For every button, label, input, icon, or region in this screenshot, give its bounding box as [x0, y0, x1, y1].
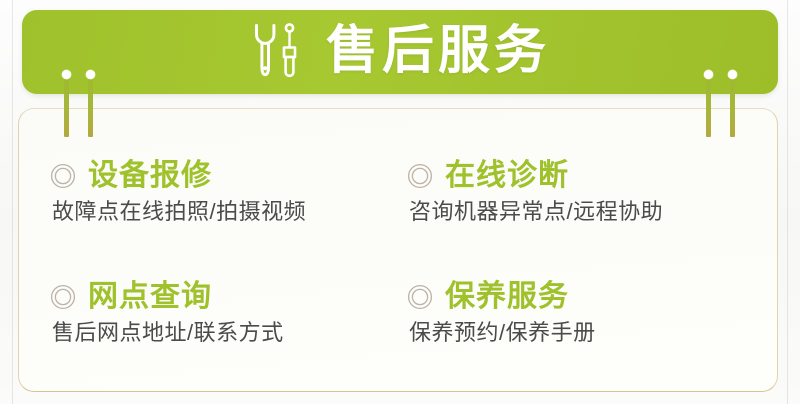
double-ring-icon	[50, 284, 76, 310]
service-item-title: 设备报修	[88, 160, 212, 192]
service-item-heading: 保养服务	[407, 281, 764, 313]
pin-head	[728, 70, 737, 79]
double-ring-icon	[407, 284, 433, 310]
service-item-description: 售后网点地址/联系方式	[52, 319, 407, 347]
wrench-screwdriver-icon	[250, 20, 304, 82]
service-item-heading: 网点查询	[50, 281, 407, 313]
service-item-description: 故障点在线拍照/拍摄视频	[52, 198, 407, 226]
pin-stem	[88, 75, 93, 137]
pin-head	[704, 70, 713, 79]
pin-stem	[706, 75, 711, 137]
service-grid: 设备报修 故障点在线拍照/拍摄视频 在线诊断 咨询机器异常点/远程协助 网点查询	[18, 108, 778, 392]
left-edge-divider	[12, 0, 13, 404]
double-ring-icon	[50, 163, 76, 189]
service-item-heading: 在线诊断	[407, 160, 764, 192]
pin-head	[62, 70, 71, 79]
double-ring-icon	[407, 163, 433, 189]
service-item-heading: 设备报修	[50, 160, 407, 192]
service-item-branch-lookup[interactable]: 网点查询 售后网点地址/联系方式	[50, 255, 407, 372]
page-title: 售后服务	[326, 25, 550, 77]
service-item-equipment-repair[interactable]: 设备报修 故障点在线拍照/拍摄视频	[50, 134, 407, 251]
service-item-title: 保养服务	[445, 281, 569, 313]
pin-head	[86, 70, 95, 79]
service-item-description: 保养预约/保养手册	[409, 319, 764, 347]
header-banner: 售后服务	[22, 10, 778, 94]
service-item-title: 在线诊断	[445, 160, 569, 192]
pin-stem	[64, 75, 69, 137]
service-item-online-diagnosis[interactable]: 在线诊断 咨询机器异常点/远程协助	[407, 134, 764, 251]
service-item-maintenance[interactable]: 保养服务 保养预约/保养手册	[407, 255, 764, 372]
after-sales-service-panel: 售后服务 设备报修 故障点在线拍照/拍摄视频	[0, 0, 800, 404]
service-item-title: 网点查询	[88, 281, 212, 313]
right-edge-divider	[787, 0, 788, 404]
pin-stem	[730, 75, 735, 137]
service-item-description: 咨询机器异常点/远程协助	[409, 198, 764, 226]
header-banner-content: 售后服务	[250, 20, 550, 82]
